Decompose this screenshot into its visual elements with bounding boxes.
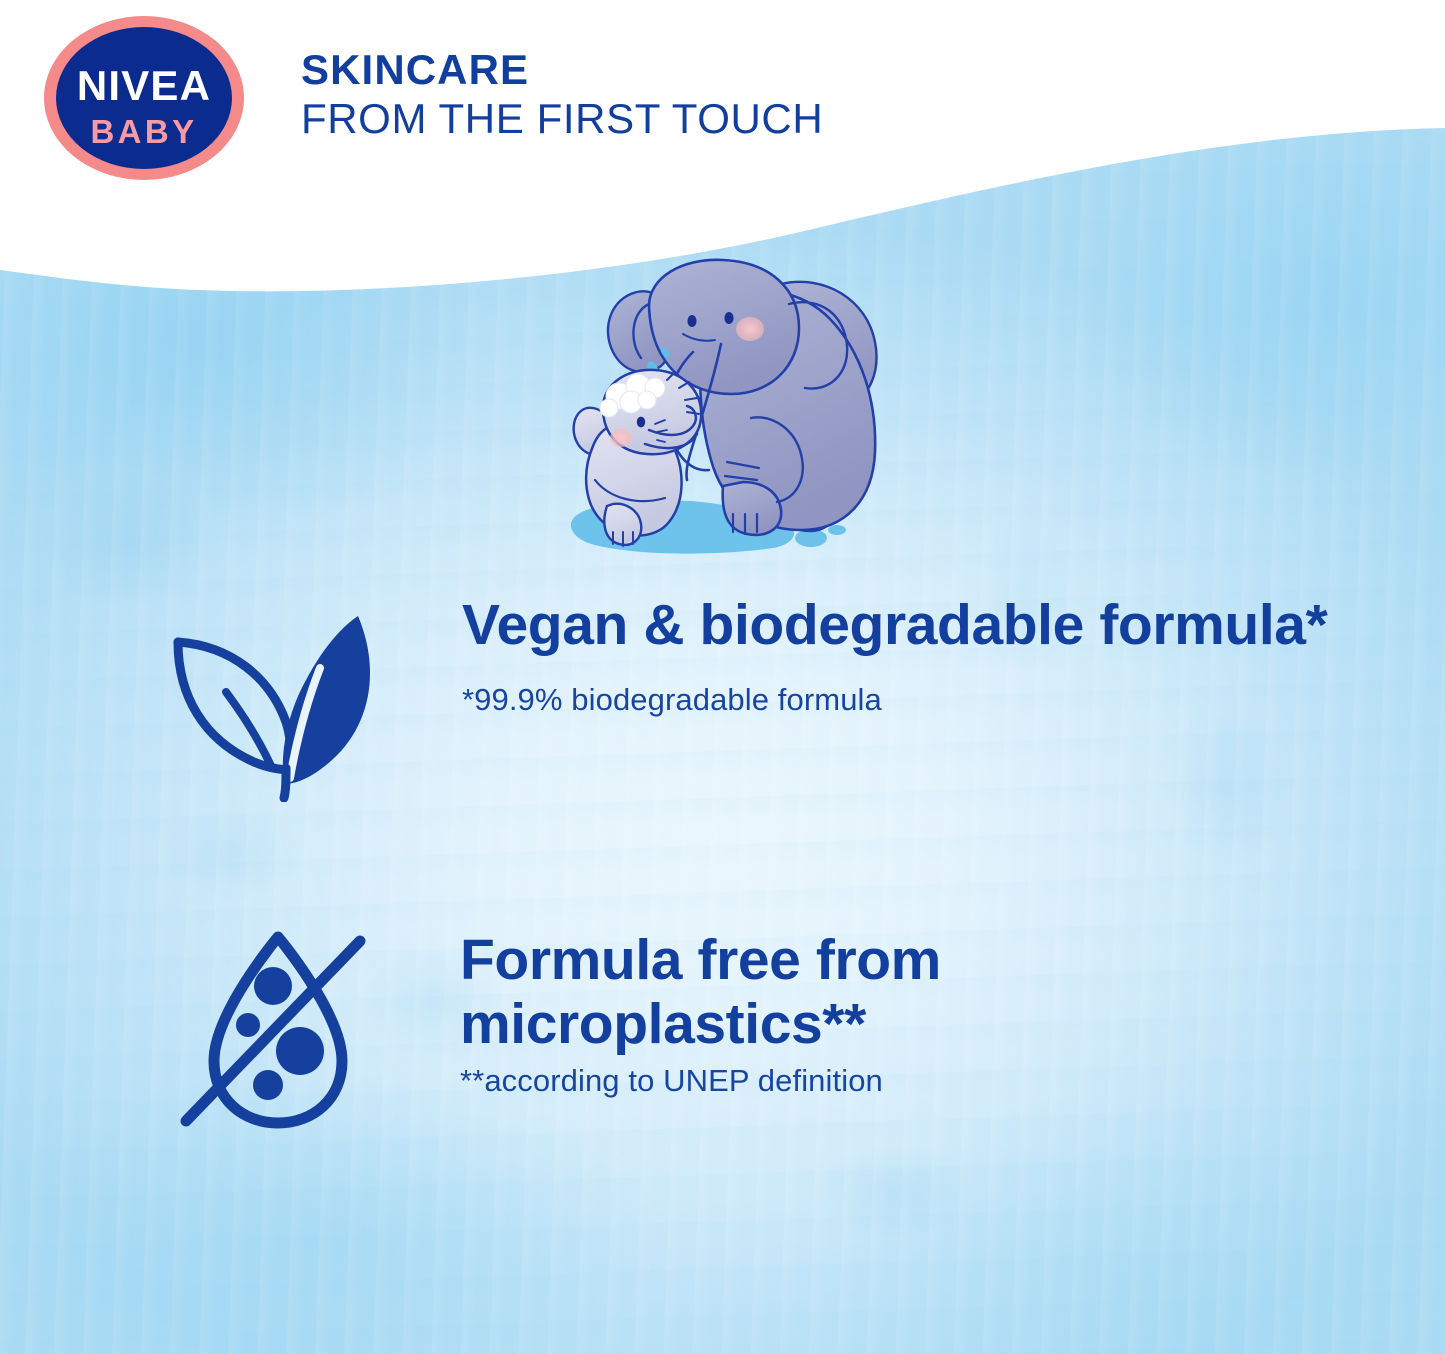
particle-small-left bbox=[236, 1013, 260, 1037]
particle-large-center bbox=[276, 1027, 324, 1075]
claim-text-block: Vegan & biodegradable formula* *99.9% bi… bbox=[420, 590, 1340, 718]
claim-footnote: *99.9% biodegradable formula bbox=[462, 682, 1340, 718]
tagline-line-2: FROM THE FIRST TOUCH bbox=[301, 95, 823, 144]
claim-text-block: Formula free from microplastics** **acco… bbox=[420, 915, 1350, 1099]
logo-nivea-wordmark: NIVEA bbox=[77, 62, 211, 109]
nivea-baby-logo: NIVEA BABY bbox=[38, 12, 250, 184]
particle-large-top bbox=[254, 967, 292, 1005]
claim-vegan-biodegradable: Vegan & biodegradable formula* *99.9% bi… bbox=[160, 590, 1340, 802]
claim-title: Formula free from microplastics** bbox=[460, 929, 1350, 1057]
claim-footnote: **according to UNEP definition bbox=[460, 1063, 1350, 1099]
nivea-baby-promo-banner: NIVEA BABY SKINCARE FROM THE FIRST TOUCH bbox=[0, 0, 1445, 1354]
elephant-illustration bbox=[545, 248, 920, 573]
claim-no-microplastics: Formula free from microplastics** **acco… bbox=[170, 915, 1350, 1138]
logo-baby-wordmark: BABY bbox=[90, 113, 197, 150]
header-tagline: SKINCARE FROM THE FIRST TOUCH bbox=[301, 46, 823, 143]
leaf-icon bbox=[160, 612, 420, 802]
no-microplastics-droplet-icon bbox=[170, 923, 420, 1138]
claim-title: Vegan & biodegradable formula* bbox=[462, 594, 1340, 658]
particle-medium-bottom bbox=[253, 1070, 283, 1100]
tagline-line-1: SKINCARE bbox=[301, 46, 823, 95]
